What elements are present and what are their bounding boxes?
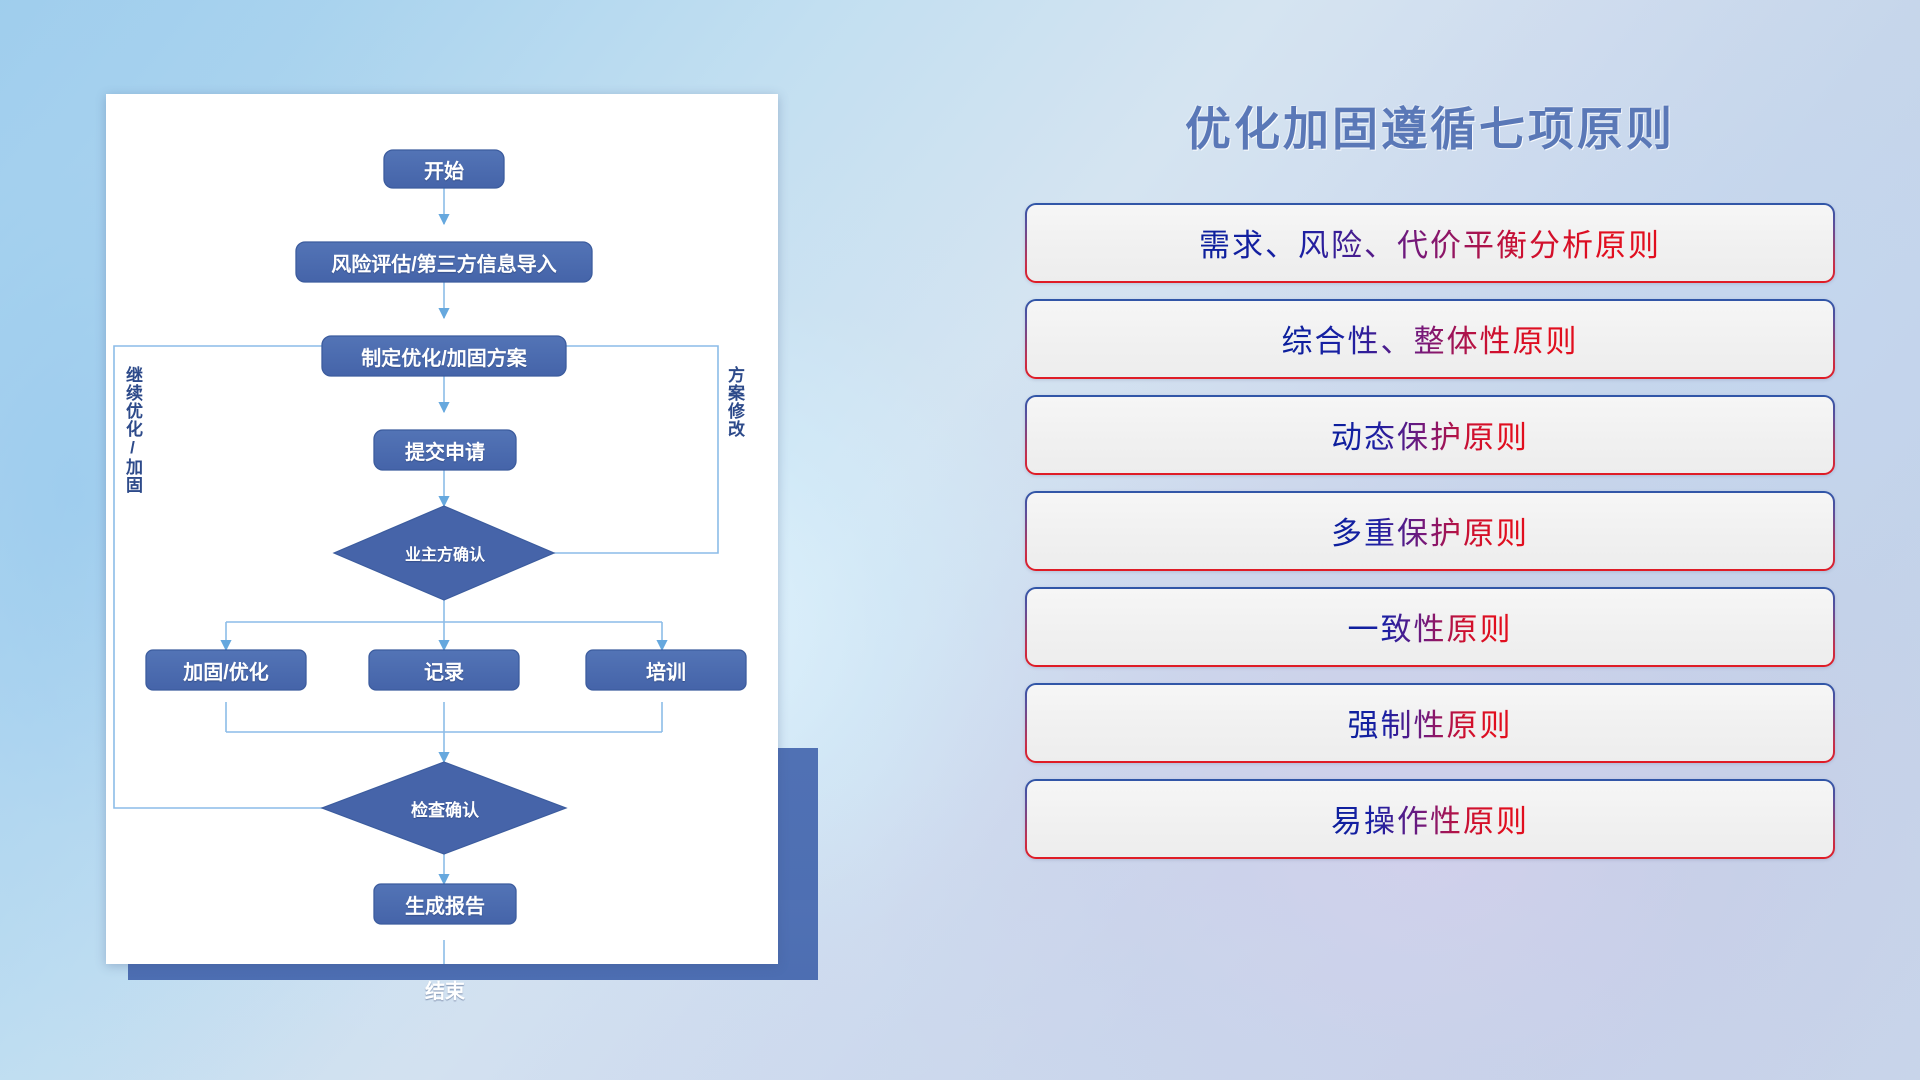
principles-list: 需求、风险、代价平衡分析原则 综合性、整体性原则 动态保护原则 多重保护原则 xyxy=(1020,203,1840,859)
principle-item-3-label: 动态保护原则 xyxy=(1331,412,1529,457)
principle-item-5-label: 一致性原则 xyxy=(1348,604,1513,649)
principle-item-5[interactable]: 一致性原则 xyxy=(1025,587,1835,667)
principle-item-2[interactable]: 综合性、整体性原则 xyxy=(1025,299,1835,379)
panel-title: 优化加固遵循七项原则 xyxy=(1020,104,1840,155)
principle-item-3[interactable]: 动态保护原则 xyxy=(1025,395,1835,475)
principle-item-4-label: 多重保护原则 xyxy=(1331,508,1529,553)
principle-item-1-inner: 需求、风险、代价平衡分析原则 xyxy=(1027,205,1833,281)
principle-item-4-inner: 多重保护原则 xyxy=(1027,493,1833,569)
principle-item-7-label: 易操作性原则 xyxy=(1331,796,1529,841)
flowchart-nodes xyxy=(146,150,746,964)
principle-item-6[interactable]: 强制性原则 xyxy=(1025,683,1835,763)
principle-item-7-inner: 易操作性原则 xyxy=(1027,781,1833,857)
slide-root: 开始 风险评估/第三方信息导入 制定优化/加固方案 提交申请 业主方确认 加固/… xyxy=(0,0,1920,1080)
principle-item-7[interactable]: 易操作性原则 xyxy=(1025,779,1835,859)
principle-item-1-label: 需求、风险、代价平衡分析原则 xyxy=(1199,220,1661,265)
principle-item-2-inner: 综合性、整体性原则 xyxy=(1027,301,1833,377)
right-loop-connector xyxy=(482,346,718,553)
principle-item-1[interactable]: 需求、风险、代价平衡分析原则 xyxy=(1025,203,1835,283)
flow-edge-label-plan-revision: 方案修改 xyxy=(726,366,743,438)
flow-edge-label-continue-optimize: 继续优化/加固 xyxy=(124,366,141,494)
principle-item-2-label: 综合性、整体性原则 xyxy=(1282,316,1579,361)
principle-item-6-inner: 强制性原则 xyxy=(1027,685,1833,761)
principle-item-4[interactable]: 多重保护原则 xyxy=(1025,491,1835,571)
flowchart-diagram xyxy=(106,94,778,964)
principle-item-6-label: 强制性原则 xyxy=(1348,700,1513,745)
principle-item-3-inner: 动态保护原则 xyxy=(1027,397,1833,473)
principle-item-5-inner: 一致性原则 xyxy=(1027,589,1833,665)
flowchart-card: 开始 风险评估/第三方信息导入 制定优化/加固方案 提交申请 业主方确认 加固/… xyxy=(106,94,778,964)
principles-panel: 优化加固遵循七项原则 需求、风险、代价平衡分析原则 综合性、整体性原则 动态保护… xyxy=(1020,104,1840,1004)
left-loop-connector xyxy=(114,346,406,808)
